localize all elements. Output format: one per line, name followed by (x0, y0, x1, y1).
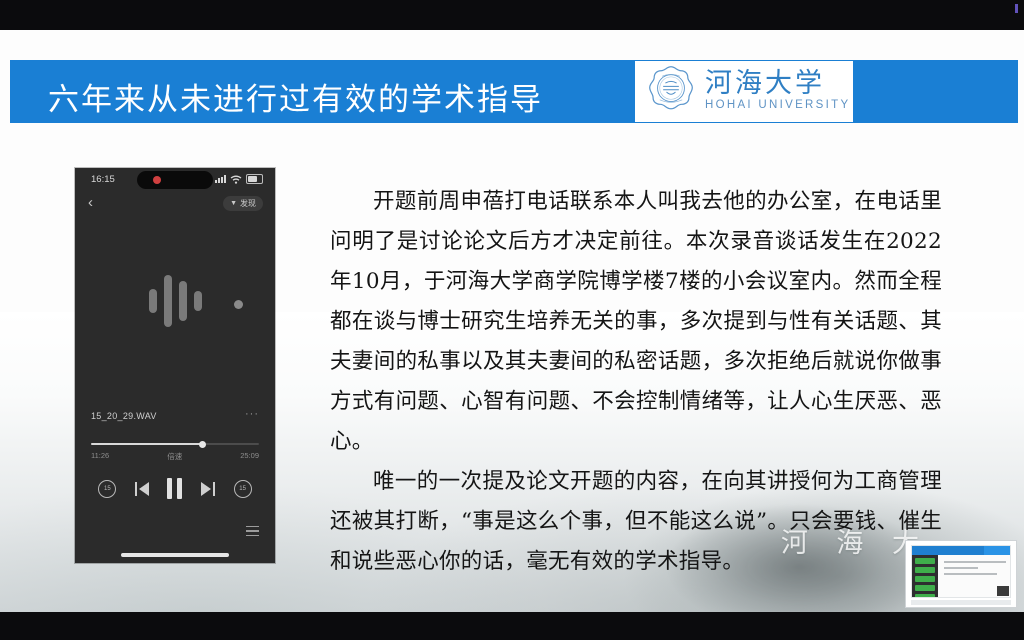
pip-text-lines (944, 561, 1006, 579)
phone-status-bar: 16:15 (75, 168, 275, 192)
university-logo: 河海大学 HOHAI UNIVERSITY (635, 61, 853, 122)
paragraph-1: 开题前周申蓓打电话联系本人叫我去他的办公室，在电话里问明了是讨论论文后方才决定前… (330, 182, 942, 462)
chevron-down-icon: ▼ (230, 200, 237, 207)
back-chevron-icon[interactable]: ‹ (88, 195, 93, 210)
previous-track-button[interactable] (135, 482, 149, 496)
rewind-15-label: 15 (104, 486, 111, 492)
playback-progress-knob[interactable] (199, 441, 206, 448)
rewind-15-button[interactable]: 15 (98, 480, 116, 498)
battery-icon (246, 174, 263, 184)
playback-progress-fill (91, 443, 202, 445)
list-menu-icon[interactable] (246, 526, 259, 536)
forward-15-button[interactable]: 15 (234, 480, 252, 498)
more-options-button[interactable]: ··· (245, 411, 259, 418)
phone-nav-bar: ‹ ▼ 发现 (75, 192, 275, 218)
logo-name-cn: 河海大学 (705, 70, 850, 98)
logo-name-en: HOHAI UNIVERSITY (705, 99, 850, 113)
wifi-icon (230, 175, 242, 184)
current-time-label: 11:26 (91, 451, 109, 462)
slide-canvas: 河 海 大 六年来从未进行过有效的学术指导 河海大学 HOHAI UNIVERS… (0, 30, 1024, 612)
previous-bar (135, 482, 137, 496)
text-cursor (1015, 4, 1018, 13)
next-track-button[interactable] (201, 482, 215, 496)
discover-pill-button[interactable]: ▼ 发现 (223, 196, 263, 211)
forward-15-label: 15 (239, 486, 246, 492)
hohai-seal-icon (643, 64, 699, 120)
phone-screenshot: 16:15 ‹ ▼ 发现 (75, 168, 275, 563)
pause-button[interactable] (167, 478, 182, 499)
pip-sidebar (912, 555, 938, 597)
previous-triangle-icon (139, 482, 149, 496)
page-title: 六年来从未进行过有效的学术指导 (48, 74, 543, 119)
waveform-dot (234, 300, 243, 309)
dynamic-island (137, 171, 213, 189)
recording-dot-icon (153, 176, 161, 184)
playback-time-row: 11:26 倍速 25:09 (91, 451, 259, 462)
letterbox-bottom (0, 612, 1024, 640)
next-triangle-icon (201, 482, 211, 496)
audio-filename: 15_20_29.WAV (91, 411, 157, 421)
pip-badge (997, 586, 1009, 596)
pip-title-bar-accent (984, 546, 1010, 555)
home-indicator (121, 553, 229, 557)
letterbox-top (0, 0, 1024, 30)
pip-content (911, 545, 1011, 598)
discover-pill-label: 发现 (240, 200, 256, 208)
playback-progress-track[interactable] (91, 443, 259, 445)
pip-footer (911, 600, 1011, 605)
status-time: 16:15 (91, 174, 115, 185)
logo-wordmark: 河海大学 HOHAI UNIVERSITY (705, 70, 850, 113)
total-time-label: 25:09 (240, 451, 259, 462)
paragraph-2: 唯一的一次提及论文开题的内容，在向其讲授何为工商管理还被其打断，“事是这么个事，… (330, 462, 942, 582)
playback-controls: 15 15 (75, 478, 275, 499)
screen-stage: 河 海 大 六年来从未进行过有效的学术指导 河海大学 HOHAI UNIVERS… (0, 0, 1024, 640)
picture-in-picture-thumbnail[interactable] (905, 540, 1017, 608)
playback-speed-label[interactable]: 倍速 (167, 451, 182, 462)
slide-body-text: 开题前周申蓓打电话联系本人叫我去他的办公室，在电话里问明了是讨论论文后方才决定前… (330, 182, 942, 582)
next-bar (213, 482, 215, 496)
cellular-signal-icon (215, 175, 226, 183)
audio-waveform-icon (75, 256, 275, 346)
status-icons (215, 174, 263, 184)
